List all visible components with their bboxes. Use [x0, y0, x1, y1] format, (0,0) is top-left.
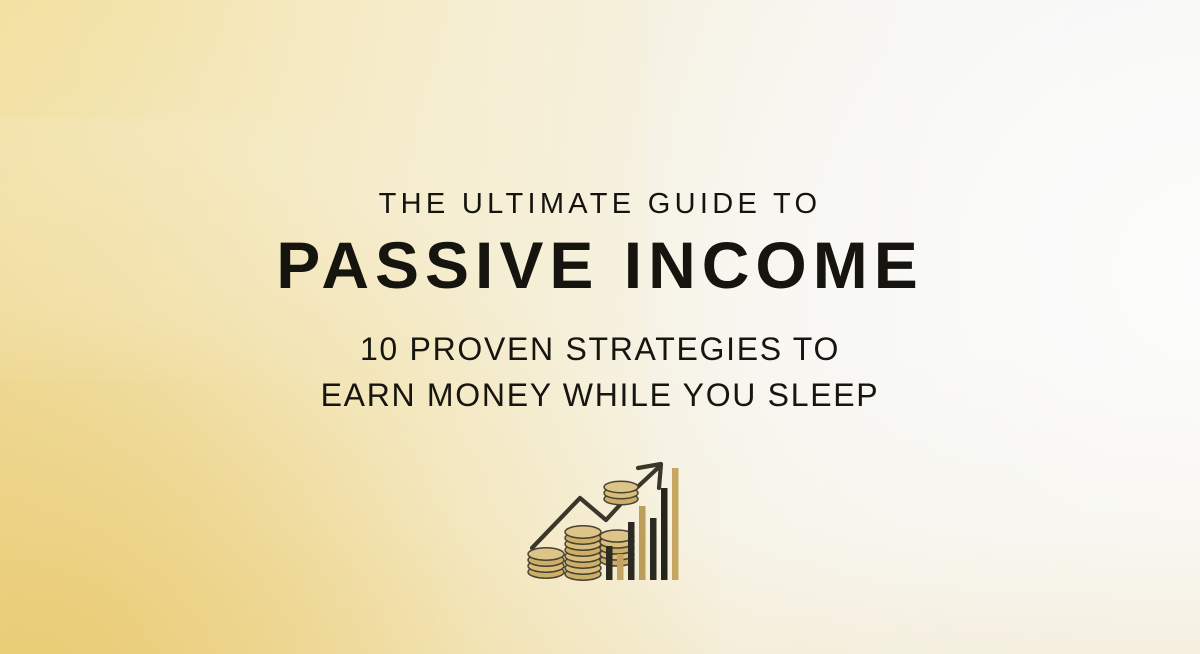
coin-stack-small-icon	[528, 548, 564, 578]
subtitle: 10 PROVEN STRATEGIES TO EARN MONEY WHILE…	[321, 327, 880, 418]
bar-6	[661, 488, 668, 580]
bar-4	[639, 506, 646, 580]
floating-coin-icon	[604, 482, 638, 506]
bar-2	[617, 554, 624, 580]
bar-7	[672, 468, 679, 580]
bar-3	[628, 522, 635, 580]
eyebrow-text: THE ULTIMATE GUIDE TO	[379, 189, 822, 219]
growth-chart-coins-icon	[520, 450, 680, 590]
subtitle-line-2: EARN MONEY WHILE YOU SLEEP	[321, 373, 880, 418]
bar-5	[650, 518, 657, 580]
page-title: PASSIVE INCOME	[276, 232, 924, 298]
subtitle-line-1: 10 PROVEN STRATEGIES TO	[321, 327, 880, 372]
coin-stack-tall-icon	[565, 526, 601, 580]
growth-chart-coins-svg	[520, 450, 680, 590]
bar-1	[606, 546, 613, 580]
cover-content: THE ULTIMATE GUIDE TO PASSIVE INCOME 10 …	[0, 0, 1200, 654]
cover-canvas: THE ULTIMATE GUIDE TO PASSIVE INCOME 10 …	[0, 0, 1200, 654]
